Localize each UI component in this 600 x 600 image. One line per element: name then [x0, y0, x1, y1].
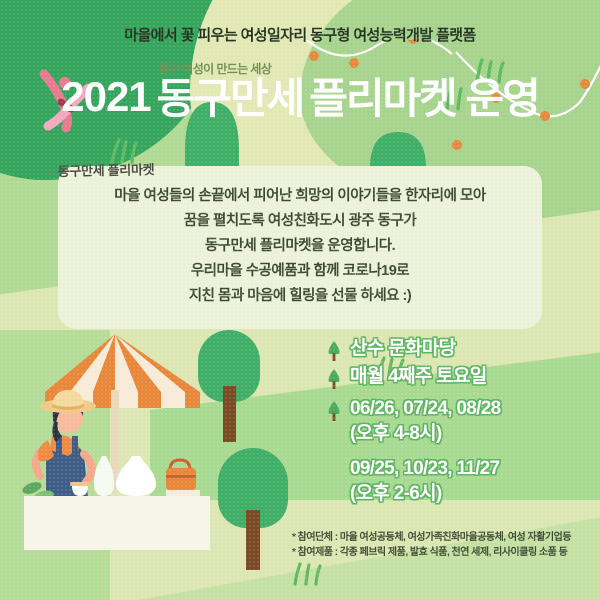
tree-illustration [218, 448, 288, 570]
info-dates-first-group: 06/26, 07/24, 08/28 (오후 4-8시) [350, 396, 500, 446]
footnotes-block: * 참여단체 : 마을 여성공동체, 여성가족친화마을공동체, 여성 자활기업등… [292, 530, 600, 560]
tree-bullet-icon [326, 400, 342, 422]
main-headline: 2021 동구 여성이 만드는 세상 동구만세 플리마켓 운영 [0, 78, 600, 120]
headline-kicker: 동구 여성이 만드는 세상 [159, 60, 272, 77]
tree-bullet-icon [326, 340, 342, 362]
tree-bullet-icon [326, 368, 342, 390]
headline-brand-wrap: 동구 여성이 만드는 세상 동구만세 [157, 78, 304, 120]
light-bulb-icon [349, 58, 359, 68]
headline-event: 플리마켓 운영 [309, 78, 539, 120]
footnote-products: * 참여제품 : 각종 페브릭 제품, 발효 식품, 천연 세제, 리사이클링 … [292, 545, 600, 560]
info-dates-first: 06/26, 07/24, 08/28 [350, 396, 500, 421]
footnote-participants: * 참여단체 : 마을 여성공동체, 여성가족친화마을공동체, 여성 자활기업등 [292, 530, 600, 545]
event-info-list: 산수 문화마당 매월 4째주 토요일 06/26, 07/24, 08/28 (… [326, 336, 596, 506]
description-line: 지친 몸과 마음에 힐링을 선물 하세요 :) [68, 284, 532, 309]
description-panel: 마을 여성들의 손끝에서 피어난 희망의 이야기들을 한자리에 모아 꿈을 펼치… [58, 166, 542, 329]
headline-brand: 동구만세 [157, 75, 304, 122]
info-schedule: 매월 4째주 토요일 [350, 364, 487, 389]
info-row-schedule: 매월 4째주 토요일 [326, 364, 596, 390]
info-row-place: 산수 문화마당 [326, 336, 596, 362]
poster-root: 마을에서 꽃 피우는 여성일자리 동구형 여성능력개발 플랫폼 2021 동구 … [0, 0, 600, 600]
info-row-dates-second: 09/25, 10/23, 11/27 (오후 2-6시) [350, 456, 596, 506]
stall-sign-cloth [24, 500, 210, 550]
description-line: 우리마을 수공예품과 함께 코로나19로 [68, 259, 532, 284]
description-line: 동구만세 플리마켓을 운영합니다. [68, 234, 532, 259]
stall-sign-label: 동구만세 플리마켓 [36, 159, 176, 181]
page-title: 마을에서 꽃 피우는 여성일자리 동구형 여성능력개발 플랫폼 [0, 24, 600, 45]
vendor-woman-illustration [36, 390, 96, 498]
headline-year: 2021 [61, 76, 150, 118]
info-row-dates-first: 06/26, 07/24, 08/28 (오후 4-8시) [326, 396, 596, 446]
description-line: 마을 여성들의 손끝에서 피어난 희망의 이야기들을 한자리에 모아 [68, 184, 532, 209]
info-time-second: (오후 2-6시) [350, 481, 596, 506]
grass-tuft-icon [288, 562, 328, 586]
light-bulb-icon [309, 51, 319, 61]
info-place: 산수 문화마당 [350, 336, 455, 361]
info-dates-second: 09/25, 10/23, 11/27 [350, 456, 596, 481]
description-line: 꿈을 펼치도록 여성친화도시 광주 동구가 [68, 209, 532, 234]
light-bulb-icon [452, 140, 462, 150]
market-stall-illustration [10, 330, 220, 550]
info-time-first: (오후 4-8시) [350, 421, 500, 446]
